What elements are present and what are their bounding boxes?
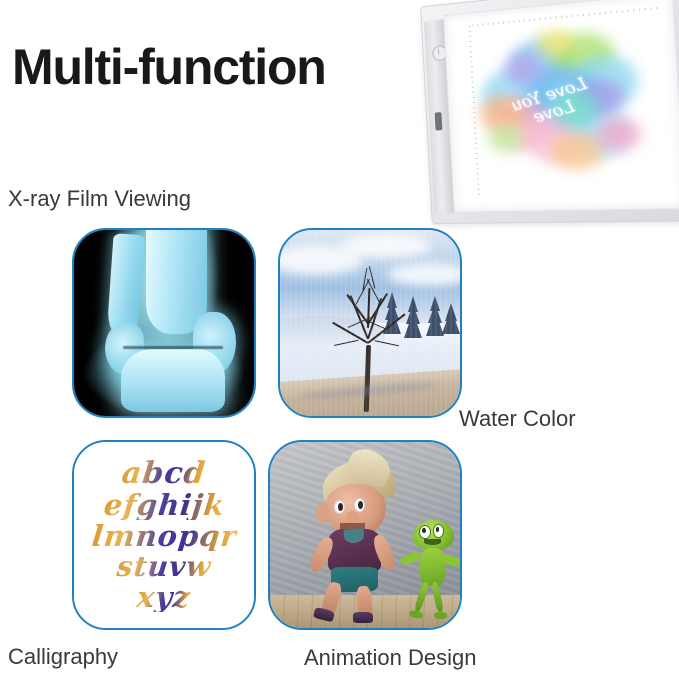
cartoon-boy-character [308, 461, 407, 617]
calligraphy-alphabet: abcd efghijk lmnopqr stuvw xyz [74, 442, 254, 628]
led-light-pad: Love You Love [418, 2, 676, 234]
x-ray-film-grain [74, 230, 254, 416]
caption-animation: Animation Design [304, 645, 476, 671]
calligraphy-row: abcd [121, 459, 208, 489]
calligraphy-row: efghijk [102, 491, 226, 520]
calligraphy-image: abcd efghijk lmnopqr stuvw xyz [74, 442, 254, 628]
page-root: Multi-function X-ray Film Viewing Water … [0, 0, 679, 681]
calligraphy-panel: abcd efghijk lmnopqr stuvw xyz [72, 440, 256, 630]
light-pad-surface: Love You Love [443, 0, 679, 213]
caption-xray: X-ray Film Viewing [8, 186, 191, 212]
x-ray-image [74, 230, 254, 416]
alien-foot [434, 612, 448, 619]
boy-sandal [353, 612, 373, 623]
calligraphy-row: xyz [136, 583, 193, 612]
winter-watercolor-image [280, 230, 460, 416]
light-pad-frame: Love You Love [420, 0, 679, 224]
animation-image [270, 442, 460, 628]
boy-pupil [338, 503, 343, 511]
boy-ear [316, 503, 329, 523]
water-color-panel [278, 228, 462, 418]
alien-leg [413, 582, 429, 613]
caption-calligraphy: Calligraphy [8, 644, 118, 670]
alien-foot [408, 609, 423, 619]
watercolor-paper-texture [280, 230, 460, 416]
alien-leg [431, 582, 445, 613]
calligraphy-row: lmnopqr [90, 522, 238, 551]
calligraphy-row: stuvw [115, 553, 212, 581]
alien-pupil [422, 528, 425, 533]
alien-body [420, 548, 445, 586]
page-title: Multi-function [12, 38, 326, 96]
watercolor-splash-artwork: Love You Love [468, 21, 655, 179]
x-ray-film-viewing-panel [72, 228, 256, 418]
usb-port [435, 112, 443, 130]
caption-water-color: Water Color [459, 406, 576, 432]
green-alien-character [403, 520, 460, 620]
animation-design-panel [268, 440, 462, 630]
